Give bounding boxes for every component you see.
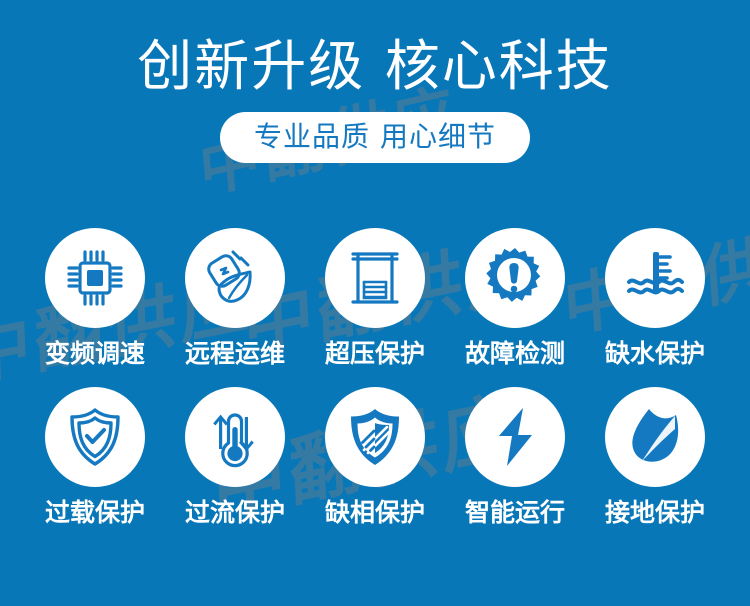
- feature-label: 缺相保护: [325, 499, 425, 528]
- feature-item-guozai-baohu[interactable]: 过载保护: [39, 387, 151, 528]
- banner-header: 创新升级 核心科技 专业品质 用心细节: [0, 0, 750, 163]
- feature-grid: 变频调速 远程运维: [0, 228, 750, 546]
- feature-item-jiedi-baohu[interactable]: 接地保护: [599, 387, 711, 528]
- subtitle-container: 专业品质 用心细节: [0, 112, 750, 163]
- lightning-bolt-icon: [483, 405, 547, 469]
- icon-circle: [325, 228, 425, 328]
- feature-row: 变频调速 远程运维: [0, 228, 750, 369]
- icon-circle: [325, 387, 425, 487]
- feature-label: 过流保护: [185, 499, 285, 528]
- feature-label: 变频调速: [45, 340, 145, 369]
- icon-circle: [45, 387, 145, 487]
- press-compress-icon: [343, 246, 407, 310]
- feature-item-chaoya-baohu[interactable]: 超压保护: [319, 228, 431, 369]
- feature-label: 缺水保护: [605, 340, 705, 369]
- feature-label: 故障检测: [465, 340, 565, 369]
- icon-circle: [605, 228, 705, 328]
- feature-item-zhineng-yunxing[interactable]: 智能运行: [459, 387, 571, 528]
- feature-item-yuancheng-yunwei[interactable]: 远程运维: [179, 228, 291, 369]
- thermometer-arrows-icon: [203, 405, 267, 469]
- icon-circle: [185, 228, 285, 328]
- icon-circle: [465, 228, 565, 328]
- feature-label: 接地保护: [605, 499, 705, 528]
- plug-leaf-icon: [203, 246, 267, 310]
- water-drop-leaf-icon: [623, 405, 687, 469]
- main-title: 创新升级 核心科技: [0, 0, 750, 98]
- feature-item-quexiang-baohu[interactable]: 缺相保护: [319, 387, 431, 528]
- shield-striped-icon: [343, 405, 407, 469]
- cpu-chip-icon: [63, 246, 127, 310]
- feature-label: 超压保护: [325, 340, 425, 369]
- icon-circle: [605, 387, 705, 487]
- shield-check-icon: [63, 405, 127, 469]
- gear-alert-icon: [483, 246, 547, 310]
- feature-label: 智能运行: [465, 499, 565, 528]
- feature-item-guzhang-jiance[interactable]: 故障检测: [459, 228, 571, 369]
- feature-item-bianpin-tiaosu[interactable]: 变频调速: [39, 228, 151, 369]
- feature-item-guoliu-baohu[interactable]: 过流保护: [179, 387, 291, 528]
- icon-circle: [45, 228, 145, 328]
- feature-label: 远程运维: [185, 340, 285, 369]
- water-level-gauge-icon: [623, 246, 687, 310]
- feature-row: 过载保护 过流保护: [0, 387, 750, 528]
- feature-item-queshui-baohu[interactable]: 缺水保护: [599, 228, 711, 369]
- feature-banner: 中翻供应 中翻供应 中翻供应 中翻供应 中翻供应 创新升级 核心科技 专业品质 …: [0, 0, 750, 606]
- icon-circle: [185, 387, 285, 487]
- feature-label: 过载保护: [45, 499, 145, 528]
- subtitle-pill: 专业品质 用心细节: [220, 112, 530, 163]
- icon-circle: [465, 387, 565, 487]
